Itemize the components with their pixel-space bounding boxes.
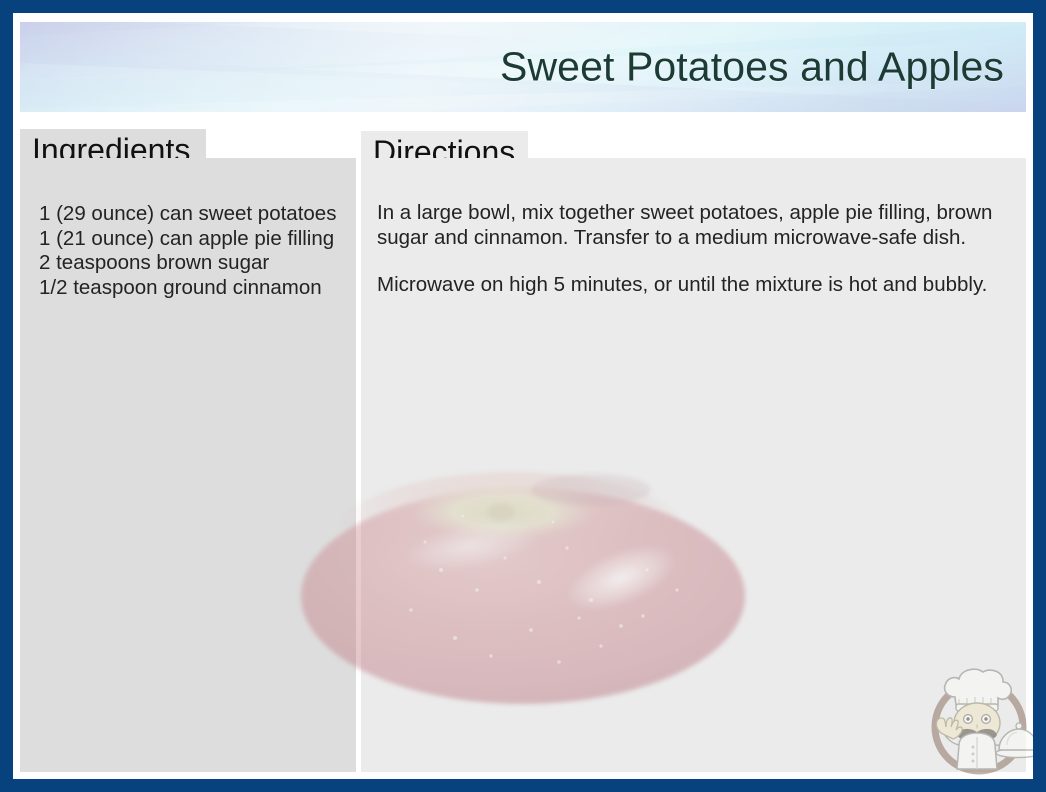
page-title: Sweet Potatoes and Apples <box>500 44 1004 91</box>
directions-body: In a large bowl, mix together sweet pota… <box>377 200 1017 297</box>
list-item: 1 (21 ounce) can apple pie filling <box>39 227 349 252</box>
ingredient-list: 1 (29 ounce) can sweet potatoes 1 (21 ou… <box>39 202 349 300</box>
list-item: 1/2 teaspoon ground cinnamon <box>39 276 349 301</box>
ingredients-panel: 1 (29 ounce) can sweet potatoes 1 (21 ou… <box>20 158 356 772</box>
directions-paragraph: In a large bowl, mix together sweet pota… <box>377 200 1017 250</box>
list-item: 2 teaspoons brown sugar <box>39 251 349 276</box>
directions-paragraph: Microwave on high 5 minutes, or until th… <box>377 272 1017 297</box>
recipe-slide: Sweet Potatoes and Apples Ingredients 1 … <box>0 0 1046 792</box>
title-banner: Sweet Potatoes and Apples <box>20 22 1026 112</box>
slide-canvas: Sweet Potatoes and Apples Ingredients 1 … <box>13 13 1033 779</box>
directions-panel: In a large bowl, mix together sweet pota… <box>361 158 1026 772</box>
list-item: 1 (29 ounce) can sweet potatoes <box>39 202 349 227</box>
